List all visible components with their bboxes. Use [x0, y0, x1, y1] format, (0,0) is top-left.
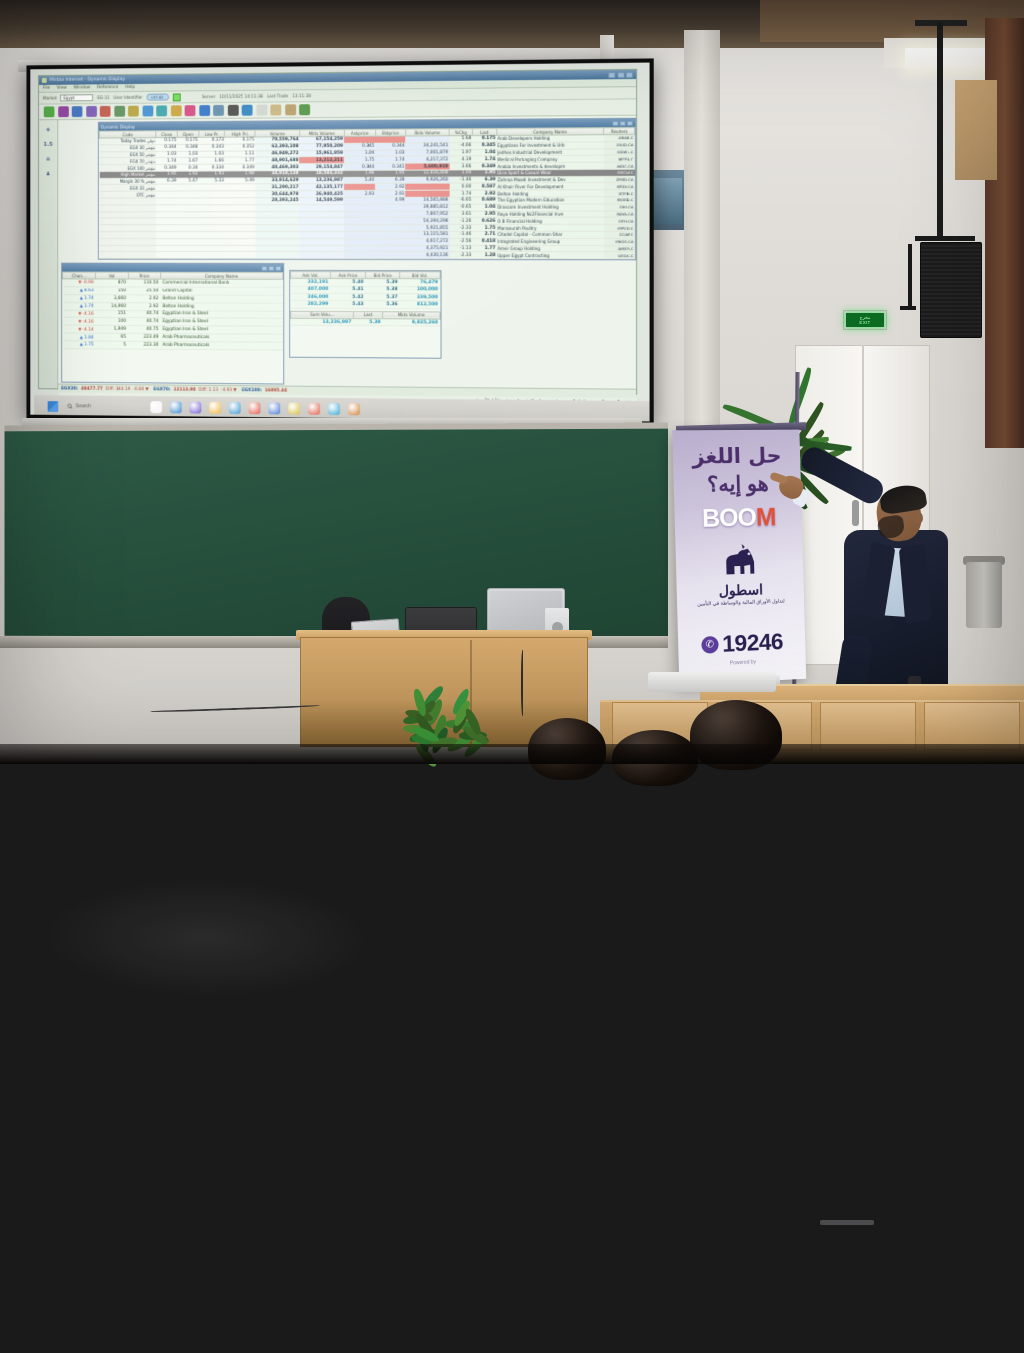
ask-volume: 332,191 [291, 279, 331, 286]
speaker-arm-lower [900, 306, 916, 310]
trade-change: ▲ 1.74 [63, 294, 96, 302]
chart-icon[interactable] [58, 106, 69, 117]
store-icon[interactable] [248, 402, 260, 414]
table-cell: 3.61 [449, 211, 472, 218]
trade-price: 40.74 [128, 318, 161, 326]
table-cell: 13,115,581 [406, 231, 450, 238]
arrow-up-icon: ▲ [80, 295, 83, 300]
ask-volume: 282,299 [291, 301, 331, 309]
table-cell: -2.33 [449, 225, 472, 232]
table-cell: -4.66 [449, 142, 472, 149]
table-cell: 1.75 [472, 224, 496, 231]
ticker-label: EGX70: [153, 387, 170, 392]
order-book-table[interactable]: Ask Vol.Ask PriceBid PriceBid Vol. 332,1… [290, 271, 440, 309]
table-cell: 4,375,921 [406, 245, 450, 252]
table-cell: KRDI.CA [604, 183, 635, 190]
trades-table[interactable]: Chan...VolPriceCompany Name ▼ -0.9087011… [62, 271, 283, 350]
connection-status-indicator [172, 93, 180, 101]
ask-volume: 246,000 [291, 293, 331, 301]
trade-change: ▲ 1.74 [63, 302, 96, 310]
table-cell: -6.65 [449, 197, 472, 204]
foreground-shadow [0, 744, 1024, 764]
summary-value: 9,925,260 [383, 319, 440, 327]
app-icon [42, 78, 47, 83]
table-cell: -1.46 [449, 231, 472, 238]
number-icon[interactable]: 1.5 [42, 139, 54, 150]
arrow-up-icon: ▲ [80, 334, 83, 339]
table-cell [156, 225, 177, 232]
mail-icon[interactable] [268, 402, 280, 414]
trade-price: 2.92 [128, 295, 161, 303]
table-cell: 0.348 [177, 144, 198, 151]
app-workarea: ◈1.5≡♟ Dynamic Display [39, 116, 636, 394]
wall-pillar [684, 30, 720, 430]
table-cell: 0.343 [199, 144, 225, 151]
projector-device [648, 672, 776, 692]
ask-price: 5.41 [330, 286, 365, 293]
table-cell: 0.34 [177, 164, 198, 171]
ticker-item: EGX70:12113.98Diff: 1.13-4.93 ▼ [153, 387, 236, 393]
table-cell [156, 238, 177, 245]
table-cell: CCAP.C [604, 231, 635, 238]
exit-sign: مخرج EXIT [843, 310, 887, 330]
ticker-label: EGX30: [61, 386, 78, 391]
speaker-pole [937, 22, 943, 240]
list-icon[interactable] [128, 106, 139, 117]
user-label: User Identifier [114, 95, 143, 100]
grid-window-controls[interactable] [612, 120, 633, 125]
trade-price: 40.75 [128, 326, 161, 334]
horse-knight-icon [716, 541, 767, 584]
order-book-row[interactable]: 282,2995.435.36812,500 [291, 301, 440, 309]
trades-maximize-button[interactable] [268, 265, 274, 270]
trade-volume: 3,660 [96, 294, 128, 302]
ask-price: 5.40 [330, 279, 365, 286]
table-cell: IINGS.CA [604, 238, 635, 245]
window-controls[interactable] [608, 71, 633, 77]
grid-maximize-button[interactable] [620, 120, 626, 125]
table-cell [99, 238, 156, 245]
market-select[interactable]: Egypt [61, 94, 94, 101]
summary-row: 13,236,9875.399,925,260 [291, 318, 440, 326]
speaker-arm [908, 244, 912, 310]
grid-icon[interactable] [170, 105, 181, 116]
help-icon[interactable] [299, 104, 310, 115]
trades-table-body[interactable]: ▼ -0.90870110.50Commercial International… [63, 279, 283, 350]
table-cell [225, 252, 255, 259]
move-icon[interactable] [199, 105, 210, 116]
table-cell: 4.99 [375, 197, 405, 204]
monitor-vent [820, 1220, 874, 1225]
table-cell [177, 238, 198, 245]
table-cell: 1.03 [156, 151, 177, 158]
table-cell: -2.56 [449, 238, 472, 245]
table-cell: 1.95 [472, 170, 496, 177]
table-cell [177, 225, 198, 232]
table-cell: 6.39 [472, 177, 496, 184]
table-cell: 0.626 [472, 218, 496, 225]
market-table[interactable]: CodeCloseOpenLow Pr.High Pri.VolumeMkts … [99, 127, 635, 259]
lock-icon[interactable] [285, 104, 296, 115]
ask-price: 5.42 [330, 293, 365, 301]
table-cell [344, 245, 375, 252]
table-cell [375, 245, 405, 252]
table-cell [199, 225, 225, 232]
table-cell [255, 238, 299, 245]
table-cell: 1.04 [472, 204, 496, 211]
table-cell [375, 238, 405, 245]
table-cell: 1.77 [472, 245, 496, 252]
table-cell: 0.349 [156, 164, 177, 171]
server-time: 10/11/2025 14:11:38 [219, 94, 263, 99]
table-cell: 6.39 [156, 178, 177, 185]
column-header[interactable]: Ask Price [330, 271, 365, 278]
trade-volume: 65 [96, 333, 128, 341]
grid-minimize-button[interactable] [612, 120, 618, 125]
table-cell: BTFH.C [604, 190, 635, 197]
trades-close-button[interactable] [275, 265, 281, 270]
teams-icon[interactable] [189, 402, 201, 414]
table-cell: Citadel Capital - Common Shar [497, 231, 604, 238]
diamond-icon[interactable]: ◈ [42, 124, 54, 135]
table-cell: 0.175 [472, 135, 496, 142]
table-cell: RAYA.CA [604, 211, 635, 218]
table-cell [300, 231, 344, 238]
arrow-up-icon: ▲ [80, 303, 83, 308]
rollup-banner: حل اللغز هو إيه؟ BOOM اسطول لتداول الأور… [672, 430, 806, 686]
exit-sign-text: EXIT [859, 320, 870, 325]
ticker-diff: Diff: 1.13 [199, 387, 219, 392]
table-cell: 26,940,425 [300, 191, 344, 198]
menu-reference[interactable]: Reference [97, 85, 118, 90]
globe-icon[interactable] [242, 105, 253, 116]
table-cell: -1.26 [449, 218, 472, 225]
ceiling-speaker [920, 242, 982, 338]
trade-price: 223.30 [128, 341, 161, 349]
trade-volume: 100 [96, 318, 128, 326]
chrome-icon[interactable] [229, 402, 241, 414]
minimize-button[interactable] [608, 72, 615, 78]
table-cell: AMER.C [604, 245, 635, 252]
ticker-label: EGX100: [242, 388, 262, 393]
trades-minimize-button[interactable] [261, 265, 267, 270]
close-button[interactable] [626, 71, 633, 77]
market-id: EG-11 [97, 95, 109, 100]
table-cell: 0.345 [472, 142, 496, 149]
table-cell: EIUD.CA [604, 141, 635, 148]
table-cell: OIH.CA [604, 204, 635, 211]
boom-text: BOO [702, 504, 757, 533]
table-cell: 1.74 [156, 158, 177, 165]
taskbar-search-label: Search [76, 403, 91, 409]
person-icon[interactable]: ♟ [42, 168, 54, 179]
refresh-icon[interactable] [44, 106, 55, 117]
table-cell: 31,290,217 [255, 184, 299, 191]
widgets-icon[interactable] [150, 401, 162, 413]
table-cell [199, 238, 225, 245]
table-cell: 1.92 [177, 171, 198, 178]
trade-change: ▼ -0.90 [63, 279, 96, 287]
bid-price: 5.38 [366, 286, 400, 293]
boom-accent: M [755, 503, 775, 531]
table-cell [344, 252, 375, 259]
table-cell [344, 218, 375, 225]
table-cell: MPCO.C [604, 224, 635, 231]
table-cell [177, 232, 198, 239]
bid-volume: 100,000 [400, 286, 440, 294]
table-cell: 1.74 [472, 156, 496, 163]
table-cell: 5.47 [177, 178, 198, 185]
arrow-down-icon: ▼ [78, 319, 81, 324]
table-cell: -2.33 [449, 252, 472, 259]
table-cell: 2.95 [472, 211, 496, 218]
network-icon[interactable] [156, 105, 167, 116]
scissors-icon[interactable] [100, 106, 111, 117]
market-table-body[interactable]: Today Trades دولي0.1750.1750.1730.17570,… [99, 135, 634, 259]
settings-icon[interactable] [328, 403, 340, 415]
table-cell: -1.46 [449, 177, 472, 184]
trade-volume: 14,960 [96, 302, 128, 310]
trade-change: ▲ 8.63 [63, 287, 96, 295]
table-cell: 1.67 [177, 158, 198, 165]
table-cell: 5,921,855 [406, 225, 450, 232]
table-cell [156, 232, 177, 239]
table-cell [199, 232, 225, 239]
order-book-window: Ask Vol.Ask PriceBid PriceBid Vol. 332,1… [289, 270, 441, 359]
grid-title-text: Dynamic Display [101, 124, 135, 129]
table-cell: 39,885,812 [406, 204, 450, 211]
word-icon[interactable] [348, 403, 360, 415]
table-cell: GDWL.C [604, 148, 635, 155]
bid-price: 5.36 [366, 301, 400, 309]
desk-panel [820, 702, 916, 750]
explorer-icon[interactable] [209, 402, 221, 414]
trade-volume: 5 [96, 341, 128, 349]
table-cell: 30,644,978 [255, 191, 299, 198]
table-cell: MOED.C [604, 197, 635, 204]
table-cell: ARAB.C [604, 135, 635, 142]
trade-price: 110.50 [128, 279, 161, 287]
bid-volume: 76,479 [400, 279, 440, 287]
list-item[interactable]: ▲ 1.755223.30Arab Pharmaceuticals [63, 341, 283, 350]
banner-phone-block: ✆ 19246 [678, 627, 806, 659]
table-icon[interactable] [213, 105, 224, 116]
table-cell: MEPA.C [604, 155, 635, 162]
table-cell: 1.28 [472, 252, 496, 259]
app-title-text: Mistaa Internet - Dynamic Display [50, 77, 126, 83]
trade-price: 40.74 [128, 310, 161, 318]
table-cell: 14,549,599 [300, 198, 344, 205]
bars-icon[interactable]: ≡ [42, 154, 54, 165]
table-cell: 1.04 [449, 170, 472, 177]
horse-knight-glyph [718, 543, 765, 578]
table-cell [225, 238, 255, 245]
table-row[interactable]: 4,430,136-2.331.28Upper Egypt Contractin… [99, 252, 634, 259]
bid-price: 5.37 [366, 294, 400, 302]
chain-icon[interactable] [185, 105, 196, 116]
table-cell: 13,236,987 [300, 177, 344, 184]
table-cell: 0.334 [199, 164, 225, 171]
banner-boom-logo: BOOM [674, 503, 802, 535]
table-cell [255, 245, 299, 252]
taskbar-search[interactable]: Search [67, 403, 91, 409]
table-cell: 54,394,298 [406, 218, 450, 225]
table-cell [344, 231, 375, 238]
ticker-diff: Diff: 344.19 [106, 386, 131, 391]
table-cell: 0.175 [177, 137, 198, 144]
trade-change: ▼ -4.16 [63, 318, 96, 326]
table-cell: 1.04 [472, 149, 496, 156]
presenter-ear [914, 512, 923, 524]
ticker-value: 12113.98 [174, 387, 196, 392]
table-cell: 0.175 [156, 138, 177, 145]
home-icon[interactable] [114, 106, 125, 117]
projector-screen: Mistaa Internet - Dynamic Display File V… [26, 58, 653, 425]
column-header[interactable]: Ask Vol. [291, 271, 331, 278]
table-cell [225, 225, 255, 232]
table-cell [199, 252, 225, 259]
start-icon[interactable] [48, 401, 59, 412]
table-cell: 0.344 [156, 144, 177, 151]
ask-price: 5.43 [330, 301, 365, 309]
table-cell [255, 231, 299, 238]
table-cell: 29,154,847 [300, 164, 344, 171]
table-cell: UEGC.C [604, 252, 635, 259]
lock-open-icon[interactable] [270, 104, 281, 115]
cloud-icon[interactable] [142, 106, 153, 117]
table-cell: 0.587 [472, 183, 496, 190]
table-cell: 2.71 [472, 231, 496, 238]
table-cell: 1.03 [177, 151, 198, 158]
trades-window-controls[interactable] [261, 265, 281, 270]
table-cell: 33,914,629 [255, 177, 299, 184]
trade-volume: 870 [96, 279, 128, 287]
table-cell [177, 252, 198, 259]
market-grid-window: Dynamic Display CodeCloseOpenLow Pr.High… [98, 118, 636, 261]
table-cell: 0.173 [199, 137, 225, 144]
table-cell: 18,584,332 [300, 170, 344, 177]
maximize-button[interactable] [617, 71, 624, 77]
arrow-up-icon: ▲ [80, 288, 83, 293]
table-cell: AIDC.CA [604, 162, 635, 169]
chalkboard-smudge [43, 876, 370, 1001]
trade-volume: 151 [96, 310, 128, 318]
trade-company: Arab Pharmaceuticals [161, 341, 283, 350]
user-pill[interactable]: LST-82 [146, 94, 168, 101]
arrow-down-icon: ▼ [78, 311, 81, 316]
table-cell: 42,135,177 [300, 184, 344, 191]
table-cell [255, 252, 299, 259]
trade-change: ▲ 1.84 [63, 333, 96, 341]
table-cell: 4,430,136 [406, 252, 450, 259]
arrow-down-icon: ▼ [78, 280, 81, 285]
banner-phone-number: 19246 [722, 628, 783, 658]
wall-wood-inset [955, 80, 997, 180]
grid-close-button[interactable] [627, 120, 633, 125]
table-cell: 0.689 [472, 197, 496, 204]
table-cell [375, 225, 405, 232]
menu-help[interactable]: Help [125, 85, 135, 90]
ticker-item: EGX30:48477.77Diff: 344.19-0.84 ▼ [61, 386, 148, 392]
search-icon [67, 403, 73, 409]
ticker-percent: -0.84 ▼ [133, 387, 148, 392]
trash-bin [966, 562, 1002, 628]
vlc-icon[interactable] [308, 403, 320, 415]
menu-view[interactable]: View [57, 86, 67, 91]
bid-volume: 812,500 [400, 301, 440, 309]
trade-volume: 1,949 [96, 325, 128, 333]
office-icon[interactable] [288, 403, 300, 415]
table-cell: ZMID.CA [604, 176, 635, 183]
table-cell: 28,393,245 [255, 198, 299, 205]
summary-value: 5.39 [353, 318, 382, 326]
trading-application: Mistaa Internet - Dynamic Display File V… [38, 69, 637, 395]
phone-icon: ✆ [701, 636, 719, 654]
table-cell: 7,807,952 [406, 211, 450, 218]
menu-file[interactable]: File [43, 86, 50, 91]
table-cell: OFH.CA [604, 217, 635, 224]
table-cell: -0.65 [449, 204, 472, 211]
app-sidebar[interactable]: ◈1.5≡♟ [39, 120, 58, 388]
column-header[interactable]: Bid Vol. [400, 272, 440, 279]
stop-icon[interactable] [227, 105, 238, 116]
server-label: Server [202, 94, 216, 99]
table-cell: 34,918,138 [255, 171, 299, 178]
edge-icon[interactable] [170, 401, 182, 413]
table-cell: -1.13 [449, 245, 472, 252]
search-icon[interactable] [72, 106, 83, 117]
order-book-body[interactable]: 332,1915.405.3976,479407,0005.415.38100,… [291, 279, 440, 309]
banner-headline-line1: حل اللغز [673, 443, 801, 468]
trade-volume: 150 [96, 287, 128, 295]
page-icon[interactable] [256, 105, 267, 116]
table-cell: DSCW.C [604, 169, 635, 176]
desk-panel [924, 702, 1020, 750]
ticker-item: EGX100:16895.44 [242, 388, 288, 393]
table-cell: 2.92 [472, 190, 496, 197]
trade-price: 223.49 [128, 333, 161, 341]
ticker-percent: -4.93 ▼ [221, 387, 237, 392]
summary-value: 13,236,987 [291, 318, 354, 326]
binoculars-icon[interactable] [86, 106, 97, 117]
table-cell [156, 252, 177, 259]
taskbar-app-icons[interactable] [150, 401, 360, 415]
recent-trades-window: Chan...VolPriceCompany Name ▼ -0.9087011… [61, 263, 284, 385]
bid-price: 5.39 [366, 279, 400, 286]
trade-change: ▼ -4.16 [63, 310, 96, 318]
trade-price: 2.92 [128, 302, 161, 310]
table-cell [375, 252, 405, 259]
ticker-value: 16895.44 [265, 388, 287, 393]
trade-change: ▼ -4.14 [63, 325, 96, 333]
arrow-up-icon: ▲ [80, 342, 83, 347]
speaker-bracket [915, 236, 975, 241]
ticker-value: 48477.77 [81, 386, 103, 391]
column-header[interactable]: Bid Price [366, 272, 400, 279]
table-cell [177, 245, 198, 252]
table-cell [375, 231, 405, 238]
arrow-down-icon: ▼ [78, 326, 81, 331]
market-label: Market [43, 96, 57, 101]
menu-window[interactable]: Window [73, 85, 90, 90]
table-cell [99, 252, 156, 259]
table-cell: 1.95 [156, 171, 177, 178]
table-cell [344, 238, 375, 245]
last-trade-time: 13:11:38 [292, 93, 311, 98]
trade-change: ▲ 1.75 [63, 341, 96, 349]
table-cell: Integrated Engineering Group [497, 238, 604, 245]
bid-volume: 339,500 [400, 294, 440, 302]
